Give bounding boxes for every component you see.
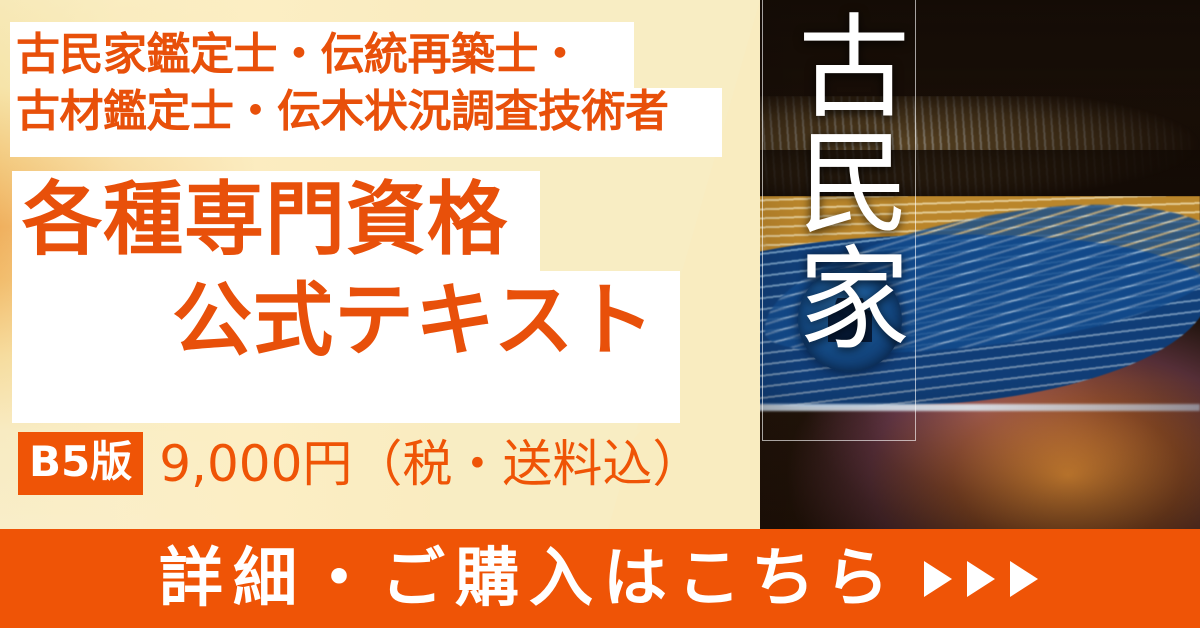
cover-title: 古民家	[764, 8, 912, 356]
triangle-right-icon	[1007, 559, 1041, 599]
main-title-line-2: 公式テキスト	[172, 281, 656, 361]
promo-banner: 古民家 伝統構法、古民家活用のための調査と再生の 古民家鑑定士・伝統再築士・ 古…	[0, 0, 1200, 628]
main-title-line-1: 各種専門資格	[22, 180, 508, 260]
triangle-right-icon	[921, 559, 955, 599]
format-badge: B5版	[18, 432, 143, 495]
price-label: 9,000円（税・送料込）	[159, 439, 702, 489]
cta-label: 詳細・ご購入はこちら	[159, 547, 899, 611]
qualifications-headline: 古民家鑑定士・伝統再築士・ 古材鑑定士・伝木状況調査技術者	[16, 26, 722, 140]
cta-bar[interactable]: 詳細・ご購入はこちら	[0, 529, 1200, 628]
triangle-right-icon	[964, 559, 998, 599]
cta-arrow-group	[921, 559, 1041, 599]
price-row: B5版 9,000円（税・送料込）	[18, 432, 702, 495]
